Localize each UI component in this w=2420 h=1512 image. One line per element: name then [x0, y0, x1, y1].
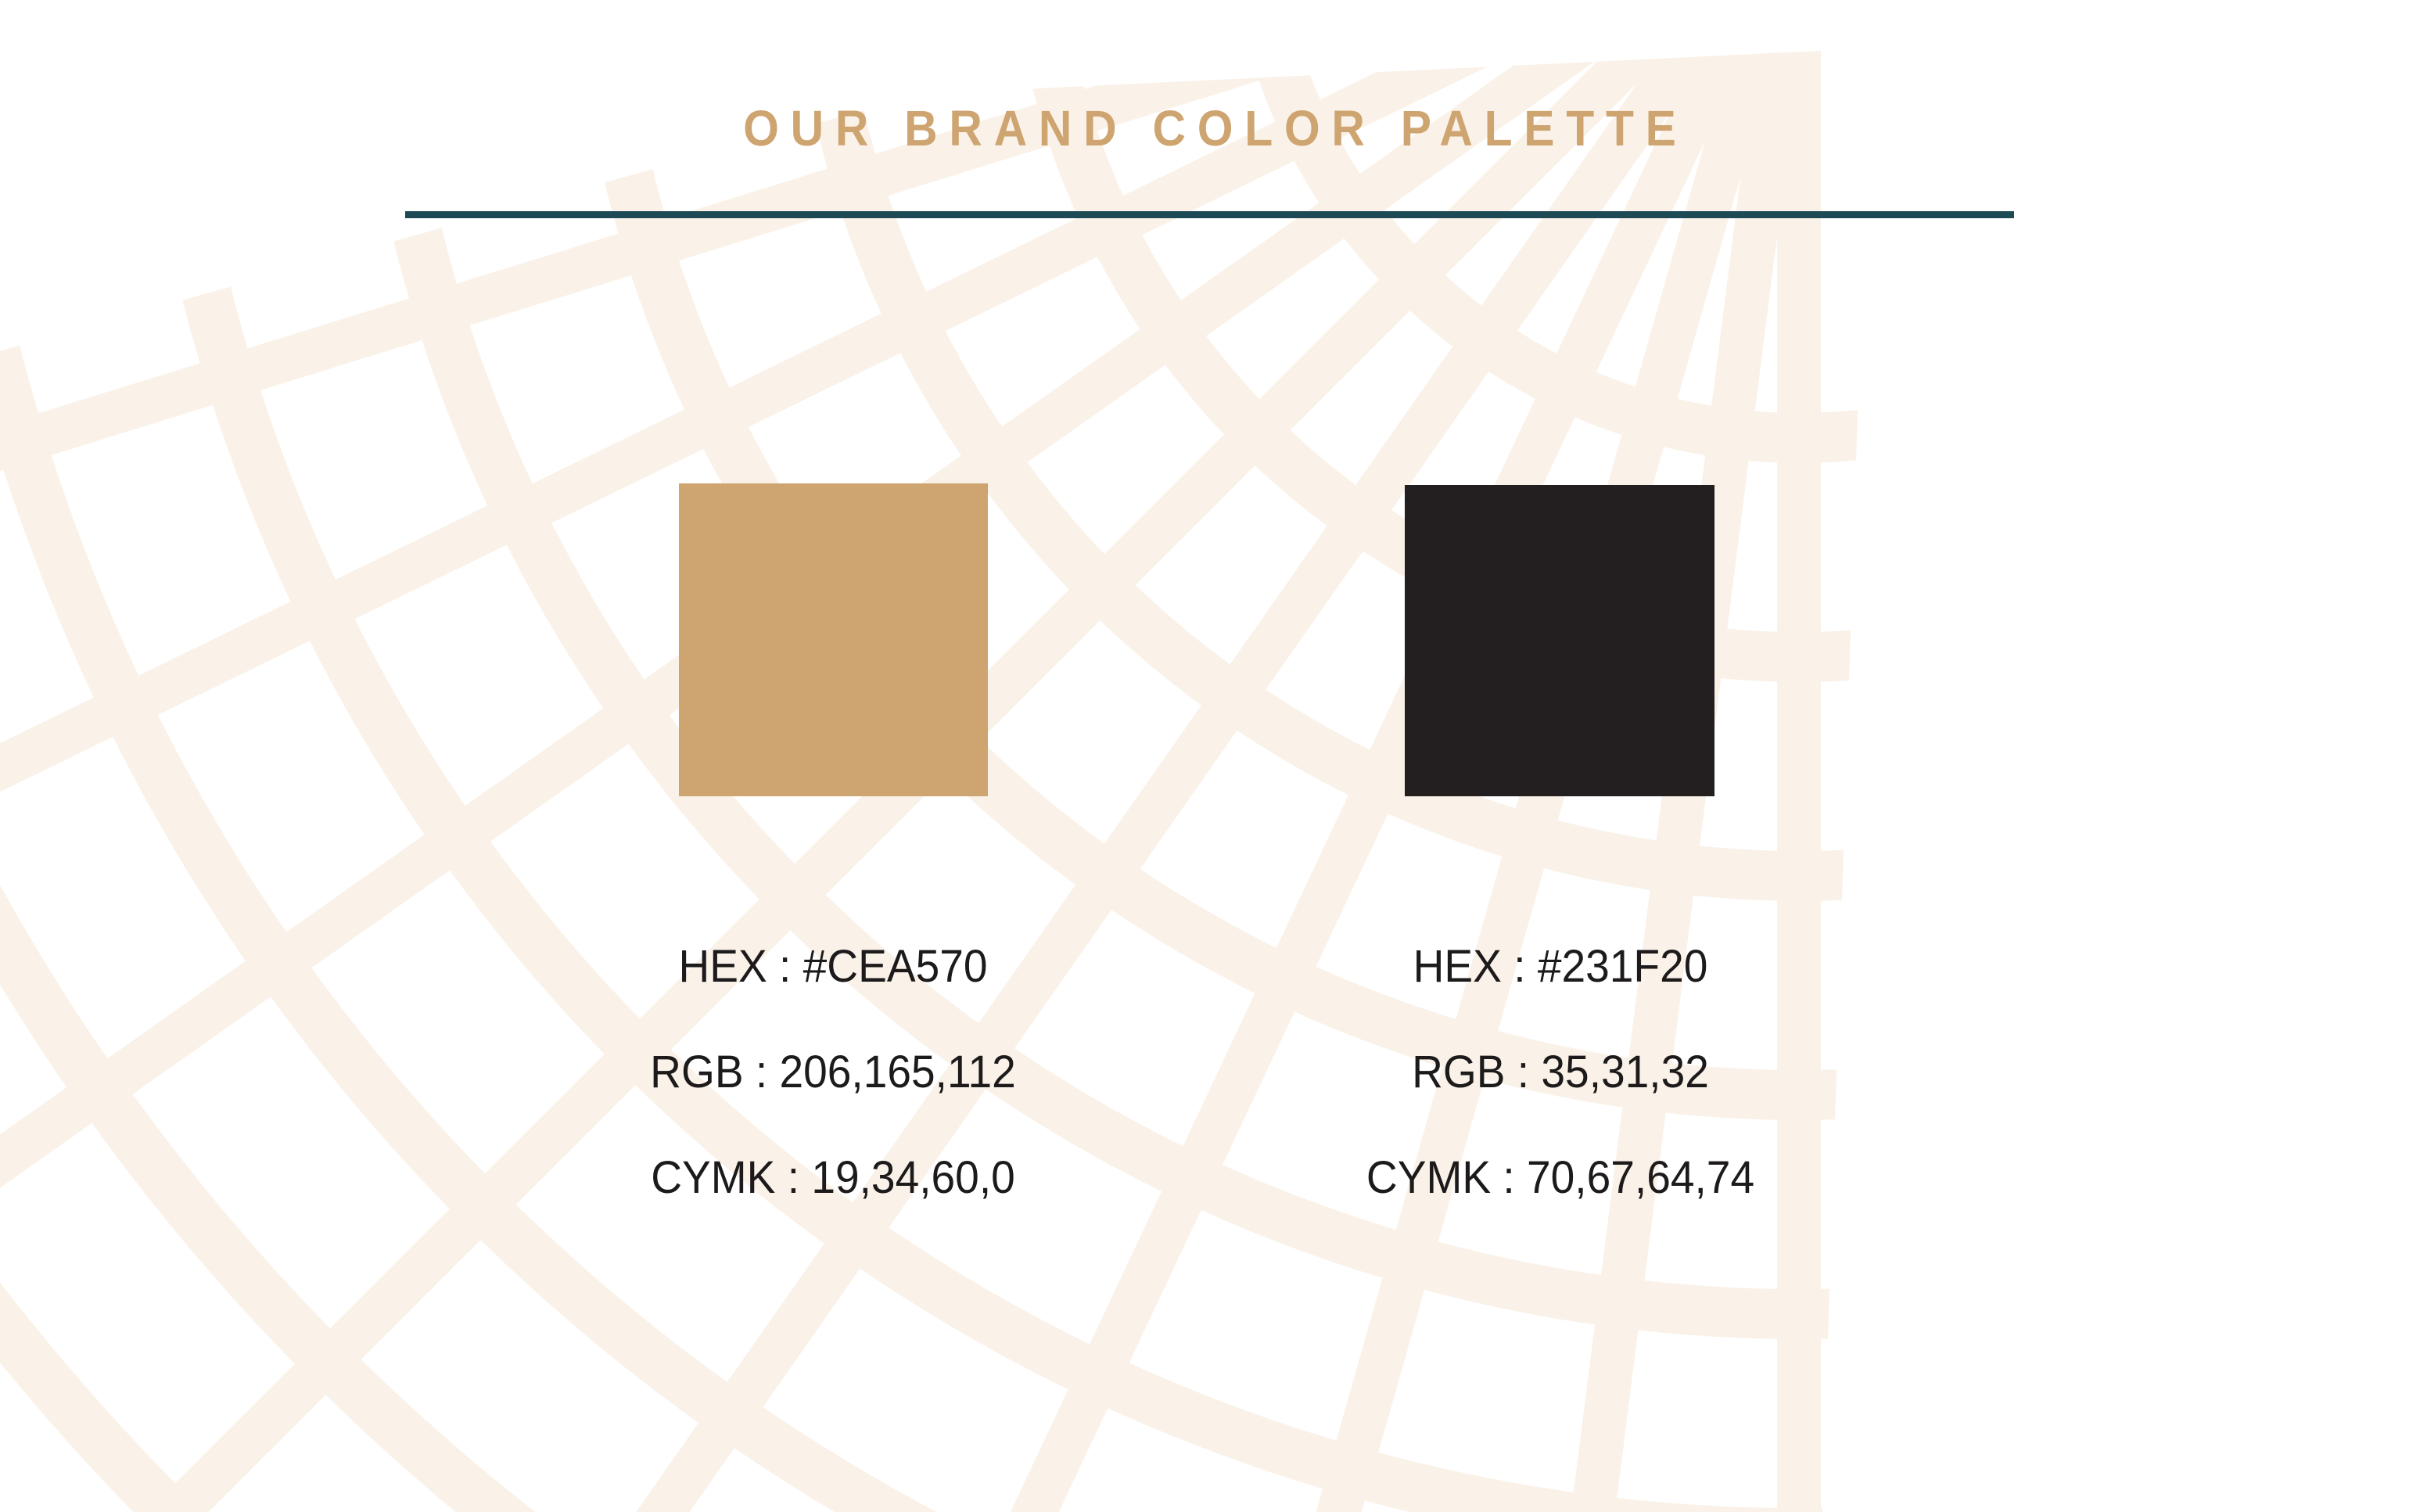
rgb-spec: RGB : 35,31,32 [1304, 1019, 1817, 1125]
rgb-spec: RGB : 206,165,112 [576, 1019, 1090, 1125]
title-block: OUR BRAND COLOR PALETTE [0, 0, 2420, 235]
hex-spec: HEX : #231F20 [1304, 914, 1817, 1019]
title-underline-rule [405, 211, 2014, 218]
color-swatch-primary [679, 483, 988, 796]
color-spec-list-secondary: HEX : #231F20 RGB : 35,31,32 CYMK : 70,6… [1291, 914, 1830, 1230]
page-title: OUR BRAND COLOR PALETTE [469, 103, 1949, 153]
cymk-spec: CYMK : 70,67,64,74 [1304, 1125, 1817, 1230]
hex-spec: HEX : #CEA570 [576, 914, 1090, 1019]
color-swatch-secondary [1405, 485, 1714, 796]
color-spec-list-primary: HEX : #CEA570 RGB : 206,165,112 CYMK : 1… [563, 914, 1103, 1230]
cymk-spec: CYMK : 19,34,60,0 [576, 1125, 1090, 1230]
brand-color-palette-slide: OUR BRAND COLOR PALETTE HEX : #CEA570 RG… [0, 0, 2420, 1512]
